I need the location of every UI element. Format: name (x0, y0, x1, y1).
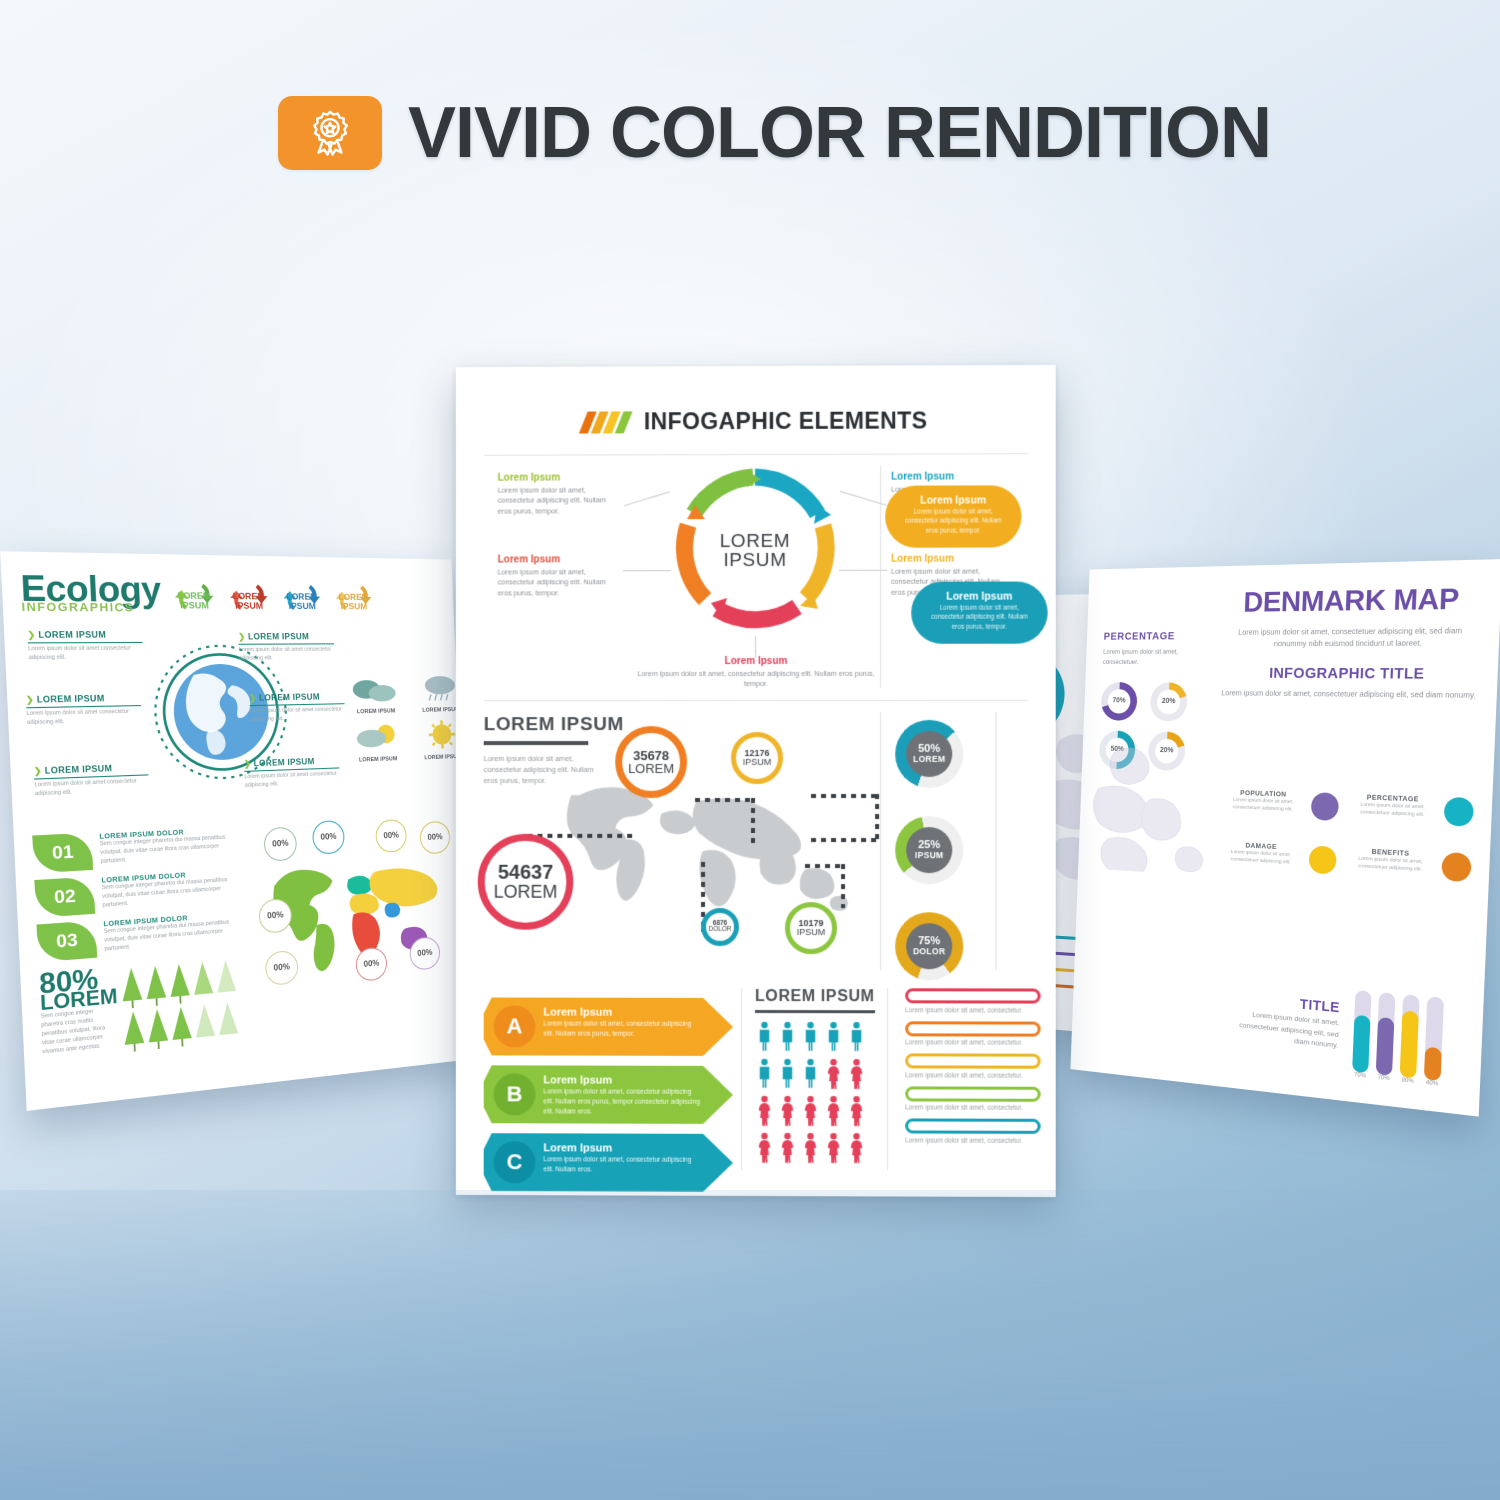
arrow-item-c[interactable]: C Lorem IpsumLorem ipsum dolor sit amet,… (484, 1133, 733, 1192)
pill-caption: Lorem ipsum dolor sit amet, consectetur. (905, 1104, 1040, 1111)
weather-grid: LOREM IPSUM LOREM IPSUM LOREM IPSUM (345, 671, 471, 763)
spoke-label: LOREM IPSUM (259, 692, 320, 702)
blob-body: Lorem ipsum dolor sit amet, consectetur … (925, 604, 1033, 632)
pill-caption: Lorem ipsum dolor sit amet, consectetur. (905, 1137, 1040, 1144)
leaf-number: 01 (52, 841, 75, 864)
percentage-body: Lorem ipsum dolor sit amet, consectetuer… (1103, 647, 1194, 667)
cycle-badge-label2: IPSUM (180, 601, 209, 611)
leaf-badge: 01 (32, 832, 93, 873)
pill-shape (905, 988, 1040, 1003)
blob-badge[interactable]: Lorem Ipsum Lorem ipsum dolor sit amet, … (885, 485, 1021, 547)
percent-donut[interactable]: 25%IPSUM (895, 816, 963, 884)
person-male-icon (778, 1021, 797, 1052)
award-ribbon-icon (278, 96, 382, 170)
leaf-list: 01 LOREM IPSUM DOLOR Sem congue integer … (32, 825, 248, 1064)
person-female-icon (801, 1095, 820, 1126)
wheel-callout: Lorem Ipsum Lorem ipsum dolor sit amet, … (498, 554, 618, 598)
spoke-label: LOREM IPSUM (37, 693, 105, 704)
mini-donut: 70% (1101, 682, 1138, 721)
person-male-icon (801, 1021, 820, 1052)
callout-title: Lorem Ipsum (498, 554, 618, 565)
forest-stat: 80% LOREM Sem congue integer pharetra cr… (39, 954, 248, 1064)
leaf-number: 03 (56, 929, 78, 953)
people-row (755, 1095, 883, 1126)
leaf-item: 02 LOREM IPSUM DOLOR Sem congue integer … (34, 867, 241, 917)
person-male-icon (847, 1021, 866, 1052)
legend-item: BENEFITS Lorem ipsum dolor sit amet, con… (1346, 847, 1471, 882)
reflection-haze (0, 1190, 1500, 1500)
pill-caption: Lorem ipsum dolor sit amet, consectetur. (905, 1039, 1040, 1046)
legend-item: PERCENTAGE Lorem ipsum dolor sit amet, c… (1349, 794, 1474, 827)
people-row (755, 1021, 883, 1052)
people-row (755, 1132, 883, 1163)
person-female-icon (755, 1095, 774, 1126)
blob-title: Lorem Ipsum (899, 494, 1007, 506)
blob-badges: Lorem Ipsum Lorem ipsum dolor sit amet, … (885, 485, 1036, 676)
cycle-badge-label2: IPSUM (341, 602, 368, 611)
wheel-center-label: LOREM IPSUM (671, 467, 839, 635)
weather-label: LOREM IPSUM (347, 708, 405, 715)
pill-item[interactable]: Lorem ipsum dolor sit amet, consectetur. (905, 1118, 1040, 1144)
chart-bar-label: 70% (1352, 1072, 1368, 1080)
spoke-item: ❯ LOREM IPSUM Lorem ipsum dolor sit amet… (244, 756, 341, 791)
pill-item[interactable]: Lorem ipsum dolor sit amet, consectetur. (905, 1053, 1040, 1079)
spoke-item: ❯ LOREM IPSUM Lorem ipsum dolor sit amet… (27, 630, 143, 664)
arrow-body: Lorem ipsum dolor sit amet, consectetur … (543, 1087, 703, 1117)
callout-title: Lorem Ipsum (498, 472, 618, 483)
marker-label: IPSUM (743, 758, 772, 767)
ecology-poster[interactable]: Ecology INFOGRAPHICS LOREM IPSUM LOREM I… (0, 551, 472, 1111)
pill-shape (905, 1086, 1040, 1101)
spoke-label: LOREM IPSUM (254, 757, 315, 769)
callout-title: Lorem Ipsum (891, 471, 1011, 482)
map-marker[interactable]: 6876 DOLOR (701, 908, 739, 946)
leaf-badge: 03 (36, 920, 97, 962)
pill-shape (905, 1118, 1040, 1133)
person-female-icon (778, 1095, 797, 1126)
marker-label: LOREM (494, 883, 558, 901)
slash-logo-icon (583, 411, 628, 433)
wheel-center-line1: LOREM (720, 532, 791, 552)
map-section-heading: LOREM IPSUM (484, 714, 624, 736)
person-female-icon (847, 1058, 866, 1089)
poster-reflection: Ecology INFOGRAPHICS LOREM IPSUM LOREM I… (0, 1190, 1500, 1500)
clouds-icon (350, 672, 400, 703)
denmark-title: DENMARK MAP (1224, 582, 1481, 619)
denmark-intro: Lorem ipsum dolor sit amet, consectetuer… (1223, 624, 1480, 650)
percentage-donut-list: 50%LOREM 25%IPSUM 75%DOLOR (887, 716, 977, 982)
percentage-heading: PERCENTAGE (1104, 631, 1210, 643)
marker-value: 54637 (498, 863, 553, 883)
person-male-icon (778, 1058, 797, 1089)
pill-caption: Lorem ipsum dolor sit amet, consectetur. (905, 1072, 1040, 1079)
heading-rule (484, 741, 589, 745)
arrow-title: Lorem Ipsum (543, 1142, 703, 1154)
weather-item: LOREM IPSUM (345, 672, 405, 715)
cycle-badge-label2: IPSUM (288, 601, 316, 610)
arrow-body: Lorem ipsum dolor sit amet, consectetur … (543, 1020, 703, 1040)
tree-grid-icon (120, 954, 248, 1056)
chart-body: Lorem ipsum dolor sit amet, consectetuer… (1231, 1009, 1339, 1053)
chart-bar (1352, 990, 1371, 1073)
cycle-badge: LOREM IPSUM (171, 580, 217, 610)
chart-bar (1376, 992, 1396, 1076)
person-female-icon (824, 1132, 843, 1163)
page-title: VIVID COLOR RENDITION (408, 97, 1271, 169)
legend-body: Lorem ipsum dolor sit amet, consectetuer… (1349, 801, 1437, 820)
map-marker[interactable]: 12176 IPSUM (731, 732, 783, 784)
spoke-item: ❯ LOREM IPSUM Lorem ipsum dolor sit amet… (34, 762, 150, 799)
spoke-body: Lorem ipsum dolor sit amet consectetur a… (26, 708, 141, 728)
weather-label: LOREM IPSUM (349, 755, 407, 763)
pill-shape (905, 1021, 1040, 1036)
arrow-letter: A (494, 1005, 536, 1047)
marker-label: IPSUM (797, 928, 826, 937)
person-male-icon (824, 1021, 843, 1052)
chart-bar (1424, 996, 1444, 1081)
center-poster-header: INFOGAPHIC ELEMENTS (456, 407, 1056, 436)
people-heading: LOREM IPSUM (755, 988, 883, 1006)
denmark-text-block: DENMARK MAP Lorem ipsum dolor sit amet, … (1218, 582, 1481, 780)
person-female-icon (824, 1058, 843, 1089)
blob-body: Lorem ipsum dolor sit amet, consectetur … (899, 507, 1007, 535)
wheel-callout: Lorem Ipsum Lorem ipsum dolor sit amet, … (635, 656, 877, 690)
spoke-label: LOREM IPSUM (248, 632, 309, 642)
denmark-subtitle: INFOGRAPHIC TITLE (1221, 664, 1477, 682)
chart-bar-label: 80% (1399, 1077, 1416, 1085)
wheel-center-line2: IPSUM (723, 551, 786, 570)
people-chart-section: LOREM IPSUM (755, 988, 883, 1163)
leaf-item: 03 LOREM IPSUM DOLOR Sem congue integer … (36, 910, 243, 963)
legend-item: POPULATION Lorem ipsum dolor sit amet, c… (1222, 789, 1339, 821)
pill-caption: Lorem ipsum dolor sit amet, consectetur. (905, 1007, 1040, 1014)
pill-list: Lorem ipsum dolor sit amet, consectetur.… (905, 988, 1040, 1151)
cycle-badge: LOREM IPSUM (332, 582, 374, 611)
callout-body: Lorem ipsum dolor sit amet, consectetur … (498, 567, 618, 598)
percent-donut[interactable]: 75%DOLOR (895, 912, 963, 980)
spoke-body: Lorem ipsum dolor sit amet consectetur a… (34, 778, 149, 800)
legend-body: Lorem ipsum dolor sit amet, consectetuer… (1347, 855, 1435, 875)
callout-body: Lorem ipsum dolor sit amet, consectetur … (498, 485, 618, 517)
pill-item[interactable]: Lorem ipsum dolor sit amet, consectetur. (905, 1086, 1040, 1112)
poster-mockup-scene: VIVID COLOR RENDITION Ecology INFOGRAPHI… (0, 0, 1500, 1500)
person-female-icon (847, 1132, 866, 1163)
weather-item: LOREM IPSUM (347, 720, 407, 764)
denmark-sub-body: Lorem ipsum dolor sit amet, consectetuer… (1221, 687, 1477, 701)
spoke-body: Lorem ipsum dolor sit amet consectetur a… (250, 706, 346, 724)
sun-cloud-icon (352, 720, 402, 752)
legend-dot (1444, 797, 1475, 827)
person-male-icon (755, 1021, 774, 1052)
arrow-item-a[interactable]: A Lorem IpsumLorem ipsum dolor sit amet,… (484, 997, 733, 1055)
forest-body: Sem congue integer pharetra cras mattis … (41, 1007, 113, 1057)
legend-dot (1441, 852, 1472, 882)
leaf-badge: 02 (34, 876, 95, 917)
cycle-badge-label2: IPSUM (235, 601, 263, 611)
globe-spoke-diagram: ❯ LOREM IPSUM Lorem ipsum dolor sit amet… (22, 625, 446, 822)
legend-body: Lorem ipsum dolor sit amet, consectetuer… (1222, 796, 1304, 814)
person-male-icon (801, 1058, 820, 1089)
person-female-icon (824, 1095, 843, 1126)
cycle-badge: LOREM IPSUM (280, 581, 324, 610)
chart-bar-label: 70% (1375, 1074, 1392, 1082)
abc-arrow-list: A Lorem IpsumLorem ipsum dolor sit amet,… (484, 997, 733, 1197)
center-poster-title: INFOGAPHIC ELEMENTS (644, 407, 928, 435)
title-bar-chart: TITLE Lorem ipsum dolor sit amet, consec… (1230, 979, 1444, 1087)
person-female-icon (847, 1095, 866, 1126)
percent-donut[interactable]: 50%LOREM (895, 720, 963, 788)
spoke-label: LOREM IPSUM (38, 630, 106, 640)
people-icon-grid (755, 1021, 883, 1163)
donut-label: DOLOR (913, 948, 945, 957)
donut-label: IPSUM (915, 851, 944, 860)
pill-shape (905, 1053, 1040, 1068)
arrow-body: Lorem ipsum dolor sit amet, consectetur … (543, 1155, 703, 1175)
legend-body: Lorem ipsum dolor sit amet, consectetuer… (1220, 848, 1302, 867)
person-female-icon (778, 1132, 797, 1163)
mini-donut: 20% (1150, 682, 1188, 721)
map-marker[interactable]: 10179 IPSUM (785, 902, 837, 954)
person-female-icon (755, 1132, 774, 1163)
infographic-elements-poster[interactable]: INFOGAPHIC ELEMENTS (456, 365, 1056, 1197)
cycle-badge-row: LOREM IPSUM LOREM IPSUM LOREM IPSUM (171, 580, 375, 611)
donut-label: LOREM (913, 755, 945, 764)
spoke-item: ❯ LOREM IPSUM Lorem ipsum dolor sit amet… (238, 632, 335, 664)
spoke-body: Lorem ipsum dolor sit amet consectetur a… (244, 771, 340, 791)
denmark-map-poster[interactable]: PERCENTAGE Lorem ipsum dolor sit amet, c… (1070, 559, 1500, 1117)
leaf-number: 02 (54, 885, 77, 908)
map-marker[interactable]: 35678 LOREM (615, 726, 687, 798)
person-female-icon (801, 1132, 820, 1163)
arrow-letter: B (494, 1073, 536, 1115)
legend-item: DAMAGE Lorem ipsum dolor sit amet, conse… (1220, 841, 1337, 875)
callout-body: Lorem ipsum dolor sit amet, consectetur … (635, 669, 877, 690)
people-row (755, 1058, 883, 1089)
pill-item[interactable]: Lorem ipsum dolor sit amet, consectetur. (905, 1021, 1040, 1047)
arrow-title: Lorem Ipsum (543, 1074, 703, 1086)
denmark-map-shape (1084, 738, 1233, 877)
page-header: VIVID COLOR RENDITION (278, 96, 1271, 170)
spoke-body: Lorem ipsum dolor sit amet consectetur a… (239, 647, 335, 664)
arrow-letter: C (494, 1141, 536, 1183)
denmark-legend: POPULATION Lorem ipsum dolor sit amet, c… (1220, 789, 1474, 882)
legend-dot (1311, 792, 1339, 821)
chart-bar (1400, 994, 1420, 1078)
chart-bar-label: 40% (1424, 1079, 1441, 1087)
person-male-icon (755, 1058, 774, 1089)
marker-label: DOLOR (708, 927, 731, 934)
spoke-body: Lorem ipsum dolor sit amet consectetur a… (28, 645, 143, 663)
map-marker[interactable]: 54637 LOREM (478, 834, 574, 930)
marker-label: LOREM (628, 762, 674, 775)
blob-badge[interactable]: Lorem Ipsum Lorem ipsum dolor sit amet, … (911, 581, 1048, 643)
wheel-callout: Lorem Ipsum Lorem ipsum dolor sit amet, … (498, 472, 618, 517)
spoke-item: ❯ LOREM IPSUM Lorem ipsum dolor sit amet… (26, 693, 142, 728)
spoke-item: ❯ LOREM IPSUM Lorem ipsum dolor sit amet… (249, 692, 345, 725)
arrow-item-b[interactable]: B Lorem IpsumLorem ipsum dolor sit amet,… (484, 1065, 733, 1124)
arrow-title: Lorem Ipsum (543, 1007, 703, 1019)
blob-title: Lorem Ipsum (925, 591, 1033, 603)
pill-item[interactable]: Lorem ipsum dolor sit amet, consectetur. (905, 988, 1040, 1014)
leaf-item: 01 LOREM IPSUM DOLOR Sem congue integer … (32, 825, 240, 873)
spoke-label: LOREM IPSUM (45, 763, 113, 775)
colored-world-map: 00% 00% 00% 00% 00% 00% 00% 00% (253, 814, 455, 1013)
cycle-badge: LOREM IPSUM (226, 581, 271, 611)
legend-dot (1308, 845, 1336, 874)
callout-title: Lorem Ipsum (635, 656, 877, 667)
